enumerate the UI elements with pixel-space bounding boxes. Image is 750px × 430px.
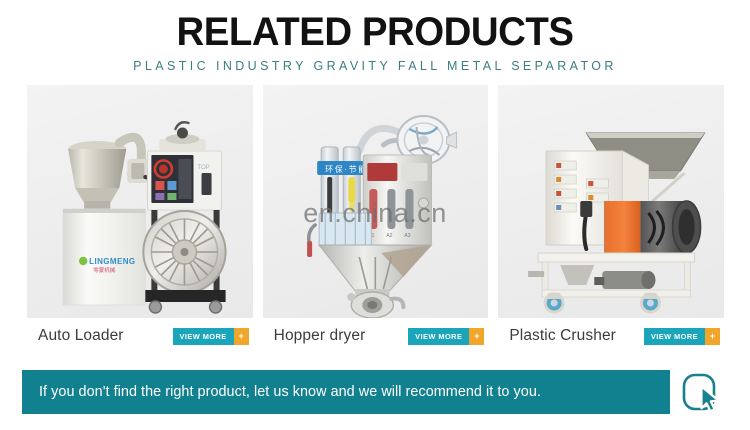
- product-card-plastic-crusher[interactable]: [498, 85, 724, 318]
- bottom-banner-row: If you don't find the right product, let…: [22, 369, 728, 415]
- label-cell-hopper-dryer: Hopper dryer VIEW MORE +: [263, 322, 489, 350]
- product-image-auto-loader: LINGMENG 零蒙机械 TOP: [27, 85, 253, 318]
- product-name-plastic-crusher: Plastic Crusher: [498, 327, 616, 345]
- svg-text:LINGMENG: LINGMENG: [89, 257, 135, 266]
- product-image-plastic-crusher: [498, 85, 724, 318]
- product-name-hopper-dryer: Hopper dryer: [263, 327, 366, 345]
- product-card-hopper-dryer[interactable]: 环保·节能·干燥 A1 A2 A3: [263, 85, 489, 318]
- page-title: RELATED PRODUCTS: [15, 10, 735, 54]
- svg-text:A3: A3: [404, 233, 410, 239]
- product-name-auto-loader: Auto Loader: [27, 327, 124, 345]
- view-more-label: VIEW MORE: [644, 328, 705, 345]
- view-more-label: VIEW MORE: [408, 328, 469, 345]
- banner-text: If you don't find the right product, let…: [39, 384, 541, 400]
- related-products-page: RELATED PRODUCTS PLASTIC INDUSTRY GRAVIT…: [0, 0, 750, 430]
- view-more-button-plastic-crusher[interactable]: VIEW MORE +: [644, 328, 720, 345]
- label-cell-plastic-crusher: Plastic Crusher VIEW MORE +: [498, 322, 724, 350]
- plus-icon: +: [234, 328, 249, 345]
- product-card-auto-loader[interactable]: LINGMENG 零蒙机械 TOP: [27, 85, 253, 318]
- page-header: RELATED PRODUCTS PLASTIC INDUSTRY GRAVIT…: [0, 0, 750, 74]
- recommendation-banner[interactable]: If you don't find the right product, let…: [22, 370, 670, 414]
- cursor-click-icon[interactable]: [676, 369, 728, 415]
- product-card-row: LINGMENG 零蒙机械 TOP: [27, 85, 724, 318]
- svg-text:零蒙机械: 零蒙机械: [93, 266, 116, 274]
- view-more-button-hopper-dryer[interactable]: VIEW MORE +: [408, 328, 484, 345]
- svg-text:A2: A2: [386, 233, 392, 239]
- page-subtitle: PLASTIC INDUSTRY GRAVITY FALL METAL SEPA…: [0, 58, 750, 74]
- label-cell-auto-loader: Auto Loader VIEW MORE +: [27, 322, 253, 350]
- view-more-button-auto-loader[interactable]: VIEW MORE +: [173, 328, 249, 345]
- svg-text:TOP: TOP: [198, 165, 210, 171]
- view-more-label: VIEW MORE: [173, 328, 234, 345]
- plus-icon: +: [705, 328, 720, 345]
- product-label-row: Auto Loader VIEW MORE + Hopper dryer VIE…: [27, 322, 724, 350]
- plus-icon: +: [469, 328, 484, 345]
- product-image-hopper-dryer: 环保·节能·干燥 A1 A2 A3: [263, 85, 489, 318]
